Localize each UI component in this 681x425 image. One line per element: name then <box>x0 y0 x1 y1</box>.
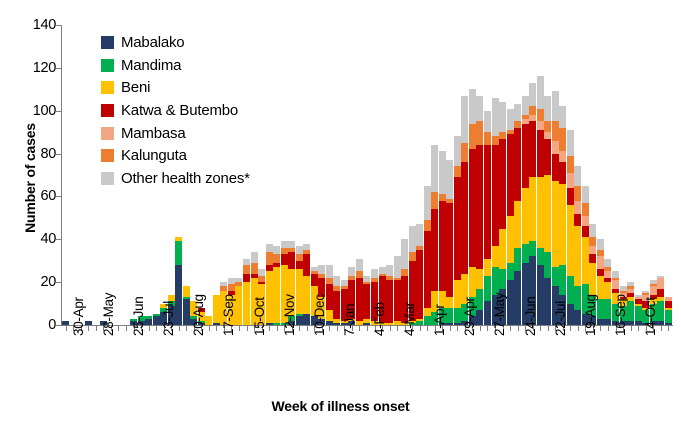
x-tick-mark <box>457 326 458 331</box>
bar-segment <box>650 286 657 295</box>
chart-root: Number of cases 020406080100120140 30-Ap… <box>0 0 681 425</box>
x-tick-mark <box>299 326 300 331</box>
bar-segment <box>213 323 220 325</box>
bar-segment <box>454 308 461 323</box>
bar-segment <box>424 316 431 325</box>
bar-segment <box>537 130 544 177</box>
bar-segment <box>446 297 453 308</box>
legend-swatch <box>101 127 114 140</box>
bar-column <box>303 244 310 325</box>
bar-segment <box>409 252 416 261</box>
bar-column <box>431 145 438 325</box>
x-tick-mark <box>247 326 248 331</box>
x-tick-mark <box>668 326 669 331</box>
bar-column <box>499 102 506 325</box>
bar-column <box>333 276 340 325</box>
bar-segment <box>461 143 468 162</box>
bar-segment <box>363 284 370 318</box>
bar-segment <box>356 259 363 272</box>
x-tick-mark <box>661 326 662 331</box>
legend-item: Kalunguta <box>101 144 250 167</box>
x-tick-mark <box>480 326 481 331</box>
bar-segment <box>574 226 581 286</box>
bar-segment <box>469 149 476 267</box>
bar-segment <box>326 265 333 278</box>
bar-segment <box>522 244 529 263</box>
bar-column <box>153 314 160 325</box>
bar-segment <box>522 188 529 244</box>
legend-label: Kalunguta <box>121 147 187 164</box>
bar-segment <box>439 201 446 291</box>
bar-segment <box>522 124 529 188</box>
x-tick-label: 7-Jan <box>342 304 357 336</box>
bar-segment <box>476 121 483 145</box>
x-tick-label: 25-Jun <box>131 297 146 336</box>
bar-column <box>424 186 431 325</box>
bar-segment <box>582 226 589 237</box>
legend-label: Mandima <box>121 57 181 74</box>
bar-column <box>439 151 446 325</box>
bar-segment <box>559 151 566 162</box>
bar-segment <box>424 186 431 220</box>
legend-label: Mambasa <box>121 125 185 142</box>
bar-segment <box>484 276 491 302</box>
bar-segment <box>243 274 250 283</box>
bar-segment <box>469 124 476 150</box>
bar-segment <box>597 256 604 269</box>
bar-segment <box>394 280 401 321</box>
bar-segment <box>439 151 446 194</box>
bar-segment <box>507 216 514 263</box>
bar-segment <box>529 177 536 241</box>
y-tick-label: 120 <box>22 60 56 76</box>
bar-column <box>657 276 664 325</box>
bar-segment <box>574 201 581 214</box>
bar-segment <box>522 96 529 115</box>
bar-segment <box>461 96 468 143</box>
bar-segment <box>348 267 355 276</box>
bar-segment <box>386 323 393 325</box>
bar-segment <box>213 295 220 323</box>
x-tick-mark <box>239 326 240 331</box>
bar-column <box>544 96 551 325</box>
bar-segment <box>537 109 544 122</box>
y-tick-mark <box>56 196 61 197</box>
bar-column <box>454 136 461 325</box>
bar-segment <box>589 237 596 246</box>
bar-segment <box>476 310 483 325</box>
bar-segment <box>318 265 325 274</box>
bar-segment <box>183 286 190 297</box>
y-tick-mark <box>56 154 61 155</box>
bar-segment <box>454 166 461 177</box>
bar-segment <box>567 188 574 205</box>
bar-segment <box>484 259 491 276</box>
bar-segment <box>499 139 506 229</box>
bar-column <box>665 297 672 325</box>
bar-segment <box>266 244 273 253</box>
bar-segment <box>657 289 664 298</box>
bar-segment <box>552 181 559 267</box>
bar-column <box>469 89 476 325</box>
bar-segment <box>574 286 581 310</box>
bar-segment <box>559 162 566 183</box>
bar-segment <box>175 241 182 265</box>
x-tick-mark <box>570 326 571 331</box>
bar-segment <box>552 91 559 121</box>
bar-segment <box>635 306 642 321</box>
bar-segment <box>529 121 536 177</box>
bar-segment <box>529 83 536 107</box>
bar-segment <box>544 121 551 132</box>
bar-segment <box>544 175 551 252</box>
bar-segment <box>559 128 566 152</box>
bar-segment <box>476 289 483 310</box>
bar-segment <box>266 252 273 265</box>
bar-segment <box>461 162 468 273</box>
bar-segment <box>492 246 499 267</box>
bar-segment <box>476 145 483 269</box>
bar-segment <box>582 203 589 216</box>
bar-segment <box>303 254 310 275</box>
legend-label: Other health zones* <box>121 170 250 187</box>
x-tick-label: 4-Feb <box>372 302 387 336</box>
y-tick-mark <box>56 111 61 112</box>
bar-column <box>183 286 190 325</box>
bar-column <box>597 239 604 325</box>
y-tick-mark <box>56 282 61 283</box>
bar-segment <box>446 160 453 199</box>
bar-column <box>559 106 566 325</box>
x-tick-label: 17-Sep <box>221 294 236 336</box>
x-tick-mark <box>216 326 217 331</box>
bar-segment <box>604 282 611 299</box>
x-tick-label: 28-May <box>101 293 116 336</box>
bar-segment <box>492 136 499 145</box>
bar-segment <box>514 201 521 248</box>
bar-segment <box>597 239 604 250</box>
bar-segment <box>145 319 152 325</box>
bar-segment <box>273 267 280 323</box>
x-tick-mark <box>578 326 579 331</box>
x-tick-mark <box>600 326 601 331</box>
bar-column <box>145 316 152 325</box>
bar-segment <box>243 282 250 325</box>
y-tick-label: 60 <box>22 188 56 204</box>
x-tick-mark <box>427 326 428 331</box>
bar-column <box>243 259 250 325</box>
bar-segment <box>386 280 393 323</box>
y-tick-label: 80 <box>22 146 56 162</box>
bar-segment <box>431 192 438 209</box>
bar-column <box>446 160 453 325</box>
bar-segment <box>604 299 611 318</box>
x-tick-mark <box>608 326 609 331</box>
y-tick-label: 0 <box>22 317 56 333</box>
bar-segment <box>514 104 521 121</box>
bar-segment <box>537 76 544 108</box>
bar-segment <box>424 308 431 317</box>
y-tick-mark <box>56 68 61 69</box>
x-tick-mark <box>179 326 180 331</box>
bar-column <box>574 166 581 325</box>
bar-column <box>461 96 468 325</box>
legend-swatch <box>101 36 114 49</box>
bar-segment <box>589 224 596 237</box>
bar-segment <box>386 265 393 276</box>
bar-segment <box>446 308 453 323</box>
bar-segment <box>574 186 581 201</box>
bar-segment <box>454 280 461 308</box>
x-tick-mark <box>638 326 639 331</box>
bar-segment <box>552 267 559 286</box>
bar-column <box>484 111 491 325</box>
bar-segment <box>657 301 664 320</box>
bar-segment <box>597 299 604 318</box>
bar-column <box>627 282 634 325</box>
bar-column <box>213 295 220 325</box>
legend-label: Katwa & Butembo <box>121 102 238 119</box>
bar-segment <box>288 252 295 269</box>
bar-segment <box>665 310 672 323</box>
x-tick-mark <box>367 326 368 331</box>
bar-segment <box>251 263 258 274</box>
bar-segment <box>484 301 491 325</box>
legend-item: Mabalako <box>101 31 250 54</box>
bar-segment <box>597 319 604 325</box>
x-tick-label: 30-Apr <box>71 297 86 336</box>
bar-segment <box>62 321 69 325</box>
x-tick-label: 19-Aug <box>583 294 598 336</box>
bar-column <box>604 259 611 325</box>
y-tick-mark <box>56 325 61 326</box>
legend-item: Mambasa <box>101 122 250 145</box>
bar-segment <box>492 267 499 295</box>
x-tick-label: 4-Mar <box>402 302 417 336</box>
legend-swatch <box>101 104 114 117</box>
bar-segment <box>333 276 340 287</box>
bar-column <box>492 98 499 325</box>
legend-item: Beni <box>101 76 250 99</box>
bar-segment <box>537 121 544 130</box>
legend-item: Other health zones* <box>101 167 250 190</box>
y-tick-label: 40 <box>22 231 56 247</box>
bar-segment <box>582 216 589 227</box>
bar-segment <box>544 252 551 278</box>
bar-segment <box>567 173 574 188</box>
bar-segment <box>544 96 551 122</box>
bar-segment <box>446 323 453 325</box>
bar-segment <box>567 156 574 173</box>
x-tick-mark <box>88 326 89 331</box>
x-tick-mark <box>186 326 187 331</box>
bar-segment <box>296 261 303 270</box>
bar-segment <box>235 286 242 325</box>
bar-segment <box>281 254 288 265</box>
bar-segment <box>476 269 483 288</box>
x-tick-mark <box>631 326 632 331</box>
bar-segment <box>469 267 476 297</box>
bar-segment <box>552 154 559 182</box>
legend-swatch <box>101 172 114 185</box>
x-tick-mark <box>126 326 127 331</box>
bar-segment <box>424 220 431 231</box>
bar-segment <box>401 239 408 269</box>
bar-column <box>416 224 423 325</box>
bar-segment <box>183 299 190 325</box>
bar-segment <box>454 136 461 166</box>
y-tick-mark <box>56 239 61 240</box>
bar-column <box>476 96 483 325</box>
bar-segment <box>409 226 416 252</box>
x-tick-mark <box>209 326 210 331</box>
y-tick-mark <box>56 25 61 26</box>
bar-segment <box>492 145 499 246</box>
x-tick-label: 24-Jun <box>523 297 538 336</box>
bar-segment <box>303 276 310 315</box>
bar-segment <box>559 265 566 295</box>
x-tick-label: 23-Jul <box>161 301 176 336</box>
bar-segment <box>665 323 672 325</box>
x-axis-title: Week of illness onset <box>0 398 681 414</box>
bar-segment <box>627 321 634 325</box>
bar-column <box>635 295 642 325</box>
bar-column <box>273 246 280 325</box>
bar-segment <box>175 265 182 325</box>
bar-segment <box>552 141 559 154</box>
bar-segment <box>529 241 536 256</box>
bar-segment <box>153 316 160 325</box>
x-tick-mark <box>307 326 308 331</box>
bar-segment <box>552 121 559 140</box>
bar-column <box>537 76 544 325</box>
bar-segment <box>251 252 258 263</box>
bar-segment <box>416 321 423 325</box>
bar-segment <box>589 254 596 263</box>
legend-swatch <box>101 81 114 94</box>
x-tick-label: 29-Apr <box>462 297 477 336</box>
x-tick-mark <box>487 326 488 331</box>
bar-segment <box>544 139 551 175</box>
bar-segment <box>604 319 611 325</box>
bar-segment <box>574 310 581 325</box>
x-tick-mark <box>96 326 97 331</box>
x-tick-label: 10-Dec <box>312 294 327 336</box>
bar-segment <box>394 321 401 325</box>
bar-segment <box>454 177 461 280</box>
bar-column <box>356 259 363 325</box>
x-tick-mark <box>420 326 421 331</box>
bar-column <box>235 278 242 325</box>
bar-segment <box>431 209 438 290</box>
bar-segment <box>484 132 491 145</box>
bar-column <box>394 256 401 325</box>
x-tick-mark <box>540 326 541 331</box>
bar-segment <box>446 203 453 297</box>
bar-segment <box>356 321 363 325</box>
bar-segment <box>589 246 596 255</box>
x-tick-label: 12-Nov <box>282 294 297 336</box>
bar-segment <box>627 301 634 320</box>
bar-segment <box>507 134 514 215</box>
bar-segment <box>394 256 401 277</box>
bar-segment <box>635 321 642 325</box>
x-tick-label: 15-Oct <box>252 297 267 336</box>
bar-segment <box>356 278 363 321</box>
bar-column <box>62 321 69 325</box>
bar-segment <box>499 229 506 270</box>
bar-segment <box>333 323 340 325</box>
x-tick-label: 14-Oct <box>643 297 658 336</box>
bar-segment <box>469 89 476 123</box>
bar-segment <box>657 321 664 325</box>
bar-segment <box>492 98 499 137</box>
bar-segment <box>597 276 604 300</box>
bar-segment <box>484 145 491 259</box>
bar-segment <box>537 248 544 265</box>
x-tick-label: 1-Apr <box>432 304 447 336</box>
x-tick-mark <box>397 326 398 331</box>
x-tick-mark <box>359 326 360 331</box>
bar-column <box>386 265 393 325</box>
bar-segment <box>333 291 340 319</box>
y-axis-ticks: 020406080100120140 <box>18 0 56 425</box>
bar-segment <box>604 259 611 268</box>
bar-segment <box>371 269 378 278</box>
legend-swatch <box>101 149 114 162</box>
bar-segment <box>514 248 521 272</box>
bar-segment <box>559 184 566 265</box>
bar-segment <box>567 130 574 156</box>
bar-segment <box>499 269 506 288</box>
bar-segment <box>514 271 521 325</box>
x-tick-mark <box>277 326 278 331</box>
bar-segment <box>567 205 574 276</box>
bar-segment <box>544 278 551 325</box>
x-tick-mark <box>337 326 338 331</box>
bar-column <box>522 96 529 325</box>
bar-segment <box>582 186 589 203</box>
bar-segment <box>424 231 431 308</box>
bar-segment <box>567 276 574 304</box>
bar-segment <box>612 280 619 289</box>
bar-segment <box>499 102 506 132</box>
bar-segment <box>582 237 589 284</box>
x-tick-label: 20-Aug <box>191 294 206 336</box>
y-tick-label: 20 <box>22 274 56 290</box>
bar-segment <box>507 280 514 325</box>
x-tick-mark <box>548 326 549 331</box>
bar-column <box>507 109 514 325</box>
x-tick-mark <box>149 326 150 331</box>
legend-item: Katwa & Butembo <box>101 99 250 122</box>
bar-segment <box>514 128 521 201</box>
bar-segment <box>537 177 544 248</box>
bar-segment <box>574 214 581 227</box>
x-tick-mark <box>510 326 511 331</box>
legend-label: Beni <box>121 79 150 96</box>
x-tick-mark <box>156 326 157 331</box>
bar-segment <box>296 246 303 255</box>
bar-segment <box>589 263 596 295</box>
bar-segment <box>273 246 280 255</box>
bar-column <box>529 83 536 325</box>
x-tick-label: 16-Sep <box>613 294 628 336</box>
bar-segment <box>476 96 483 122</box>
bar-segment <box>243 265 250 274</box>
bar-column <box>567 130 574 325</box>
legend-label: Mabalako <box>121 34 184 51</box>
